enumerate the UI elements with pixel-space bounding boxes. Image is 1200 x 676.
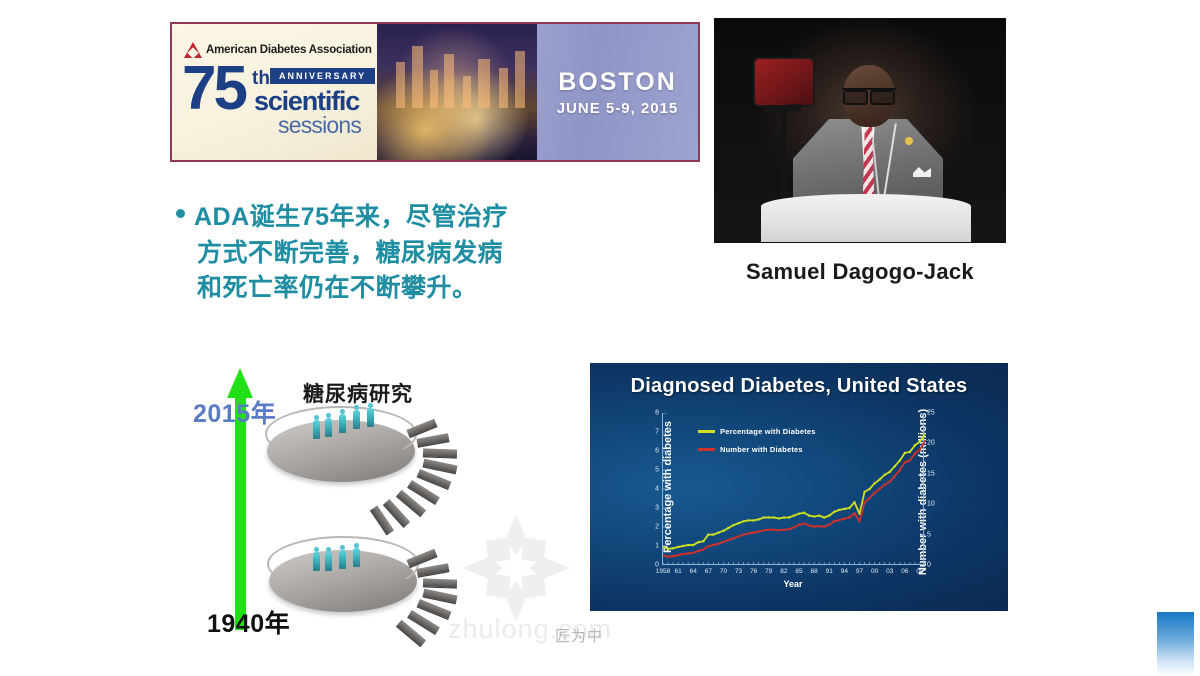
- slide-canvas: American Diabetes Association 75 th ANNI…: [0, 0, 1200, 676]
- banner-city-name: BOSTON: [558, 68, 677, 97]
- chart-ytick-right: 15: [927, 470, 935, 477]
- chart-xtick: 73: [735, 568, 742, 575]
- staircase-person: [353, 548, 360, 567]
- chart-xtick: 70: [720, 568, 727, 575]
- chart-xtick: 03: [886, 568, 893, 575]
- speaker-photo: [714, 18, 1006, 243]
- chart-x-axis-label: Year: [662, 579, 924, 589]
- legend-entry-number: Number with Diabetes: [698, 445, 816, 454]
- chart-ytick-left: 7: [655, 429, 659, 436]
- chart-xtick: 1958: [656, 568, 670, 575]
- staircase-person: [367, 408, 374, 427]
- chart-xtick: 06: [901, 568, 908, 575]
- staircase-person: [339, 550, 346, 569]
- chart-xtick: 64: [690, 568, 697, 575]
- lapel-pin-icon: [905, 137, 913, 145]
- ada-conference-banner: American Diabetes Association 75 th ANNI…: [170, 22, 700, 162]
- chart-xtick: 00: [871, 568, 878, 575]
- bullet-line-3: 和死亡率仍在不断攀升。: [176, 271, 576, 307]
- staircase-person: [325, 552, 332, 571]
- ada-anniversary-ribbon: ANNIVERSARY: [270, 68, 375, 84]
- chart-ytick-left: 8: [655, 410, 659, 417]
- chart-ytick-left: 1: [655, 543, 659, 550]
- diabetes-chart-card: Diagnosed Diabetes, United States Percen…: [590, 363, 1008, 611]
- speaker-block: Samuel Dagogo-Jack: [714, 18, 1006, 285]
- speaker-name-caption: Samuel Dagogo-Jack: [714, 259, 1006, 285]
- teleprompter-stand: [781, 107, 786, 212]
- chart-xtick: 61: [674, 568, 681, 575]
- legend-swatch-number: [698, 448, 715, 451]
- chart-xtick: 67: [705, 568, 712, 575]
- ada-anniversary-number: 75: [182, 60, 245, 117]
- bullet-line-2: 方式不断完善，糖尿病发病: [176, 236, 576, 272]
- chart-ytick-left: 4: [655, 486, 659, 493]
- chart-ytick-left: 6: [655, 448, 659, 455]
- chart-ytick-right: 20: [927, 440, 935, 447]
- bullet-line-1: ADA诞生75年来，尽管治疗: [194, 203, 508, 231]
- legend-entry-percentage: Percentage with Diabetes: [698, 427, 816, 436]
- podium: [761, 194, 971, 242]
- chart-xtick: 09: [916, 568, 923, 575]
- chart-title: Diagnosed Diabetes, United States: [590, 375, 1008, 398]
- chart-xtick: 85: [795, 568, 802, 575]
- ada-sessions-word: sessions: [278, 112, 361, 139]
- chart-xtick: 91: [826, 568, 833, 575]
- spiral-staircase-image: [257, 402, 485, 642]
- legend-label-number: Number with Diabetes: [720, 445, 803, 454]
- chart-xtick: 94: [841, 568, 848, 575]
- ada-logo-panel: American Diabetes Association 75 th ANNI…: [172, 24, 377, 160]
- legend-label-percentage: Percentage with Diabetes: [720, 427, 816, 436]
- chart-ytick-left: 2: [655, 524, 659, 531]
- teleprompter-screen-icon: [753, 57, 815, 107]
- staircase-person: [313, 552, 320, 571]
- banner-dates: JUNE 5-9, 2015: [557, 100, 679, 117]
- watermark-cjk-text: 匠为中: [555, 625, 603, 646]
- corner-accent-bar: [1157, 612, 1194, 676]
- chart-xtick: 82: [780, 568, 787, 575]
- legend-swatch-percentage: [698, 430, 715, 433]
- chart-ytick-left: 3: [655, 505, 659, 512]
- chart-xtick: 76: [750, 568, 757, 575]
- chart-xtick: 88: [811, 568, 818, 575]
- banner-location-panel: BOSTON JUNE 5-9, 2015: [537, 24, 698, 160]
- staircase-person: [339, 414, 346, 433]
- bullet-line-1-row: ADA诞生75年来，尽管治疗: [176, 200, 576, 236]
- staircase-person: [325, 418, 332, 437]
- diabetes-chart-figure: Diagnosed Diabetes, United States Percen…: [590, 337, 1008, 613]
- glasses-icon: [842, 88, 896, 99]
- timeline-bottom-year: 1940年: [207, 604, 290, 640]
- staircase-person: [353, 410, 360, 429]
- chart-ytick-right: 0: [927, 562, 931, 569]
- bullet-dot-icon: [176, 209, 185, 218]
- chart-ytick-right: 5: [927, 531, 931, 538]
- timeline-top-year: 2015年: [193, 394, 276, 430]
- chart-ytick-left: 5: [655, 467, 659, 474]
- staircase-person: [313, 420, 320, 439]
- chart-legend: Percentage with Diabetes Number with Dia…: [698, 427, 816, 463]
- chart-xtick: 97: [856, 568, 863, 575]
- chart-xtick: 79: [765, 568, 772, 575]
- chart-ytick-right: 25: [927, 410, 935, 417]
- chart-ytick-right: 10: [927, 501, 935, 508]
- research-progress-illustration: 2015年 1940年 糖尿病研究: [185, 360, 485, 650]
- boston-skyline-photo: [377, 24, 537, 160]
- research-caption: 糖尿病研究: [303, 378, 413, 408]
- bullet-text-block: ADA诞生75年来，尽管治疗 方式不断完善，糖尿病发病 和死亡率仍在不断攀升。: [176, 200, 576, 307]
